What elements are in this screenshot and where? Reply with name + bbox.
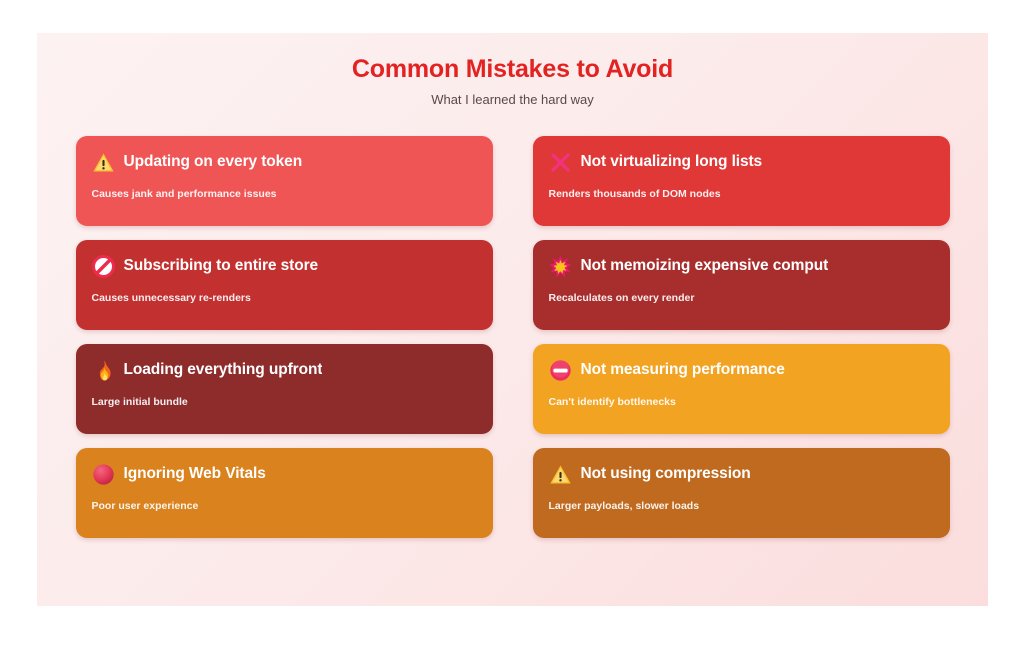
page-subtitle: What I learned the hard way <box>37 92 988 107</box>
mistake-cards-grid: Updating on every tokenCauses jank and p… <box>76 136 950 538</box>
card-description: Recalculates on every render <box>549 292 934 306</box>
card-title: Subscribing to entire store <box>124 257 319 276</box>
card-title: Not measuring performance <box>581 361 785 380</box>
card-heading-row: Not measuring performance <box>549 358 934 384</box>
card-heading-row: Loading everything upfront <box>92 358 477 384</box>
card-heading-row: Not memoizing expensive comput <box>549 254 934 280</box>
card-description: Poor user experience <box>92 500 477 514</box>
mistake-card[interactable]: Ignoring Web VitalsPoor user experience <box>76 448 493 538</box>
card-description: Causes unnecessary re-renders <box>92 292 477 306</box>
prohibited-icon <box>92 255 115 278</box>
card-heading-row: Not virtualizing long lists <box>549 150 934 176</box>
mistake-card[interactable]: Not measuring performanceCan't identify … <box>533 344 950 434</box>
card-heading-row: Subscribing to entire store <box>92 254 477 280</box>
mistake-card[interactable]: Subscribing to entire storeCauses unnece… <box>76 240 493 330</box>
card-title: Loading everything upfront <box>124 361 323 380</box>
card-description: Large initial bundle <box>92 396 477 410</box>
card-heading-row: Not using compression <box>549 462 934 488</box>
card-title: Updating on every token <box>124 153 303 172</box>
card-description: Larger payloads, slower loads <box>549 500 934 514</box>
mistake-card[interactable]: Loading everything upfrontLarge initial … <box>76 344 493 434</box>
mistake-card[interactable]: Updating on every tokenCauses jank and p… <box>76 136 493 226</box>
collision-icon <box>549 255 572 278</box>
page-title: Common Mistakes to Avoid <box>37 55 988 84</box>
cross-mark-icon <box>549 151 572 174</box>
card-title: Not memoizing expensive comput <box>581 257 829 276</box>
no-entry-icon <box>549 359 572 382</box>
card-title: Not virtualizing long lists <box>581 153 763 172</box>
mistake-card[interactable]: Not memoizing expensive computRecalculat… <box>533 240 950 330</box>
mistake-card[interactable]: Not using compressionLarger payloads, sl… <box>533 448 950 538</box>
card-description: Renders thousands of DOM nodes <box>549 188 934 202</box>
card-title: Ignoring Web Vitals <box>124 465 266 484</box>
card-heading-row: Updating on every token <box>92 150 477 176</box>
warning-triangle-icon <box>92 151 115 174</box>
slide-canvas: Common Mistakes to Avoid What I learned … <box>37 33 988 606</box>
card-heading-row: Ignoring Web Vitals <box>92 462 477 488</box>
slide-header: Common Mistakes to Avoid What I learned … <box>37 33 988 107</box>
fire-icon <box>92 359 115 382</box>
mistake-card[interactable]: Not virtualizing long listsRenders thous… <box>533 136 950 226</box>
warning-triangle-icon <box>549 463 572 486</box>
red-circle-icon <box>92 463 115 486</box>
card-title: Not using compression <box>581 465 751 484</box>
card-description: Causes jank and performance issues <box>92 188 477 202</box>
card-description: Can't identify bottlenecks <box>549 396 934 410</box>
